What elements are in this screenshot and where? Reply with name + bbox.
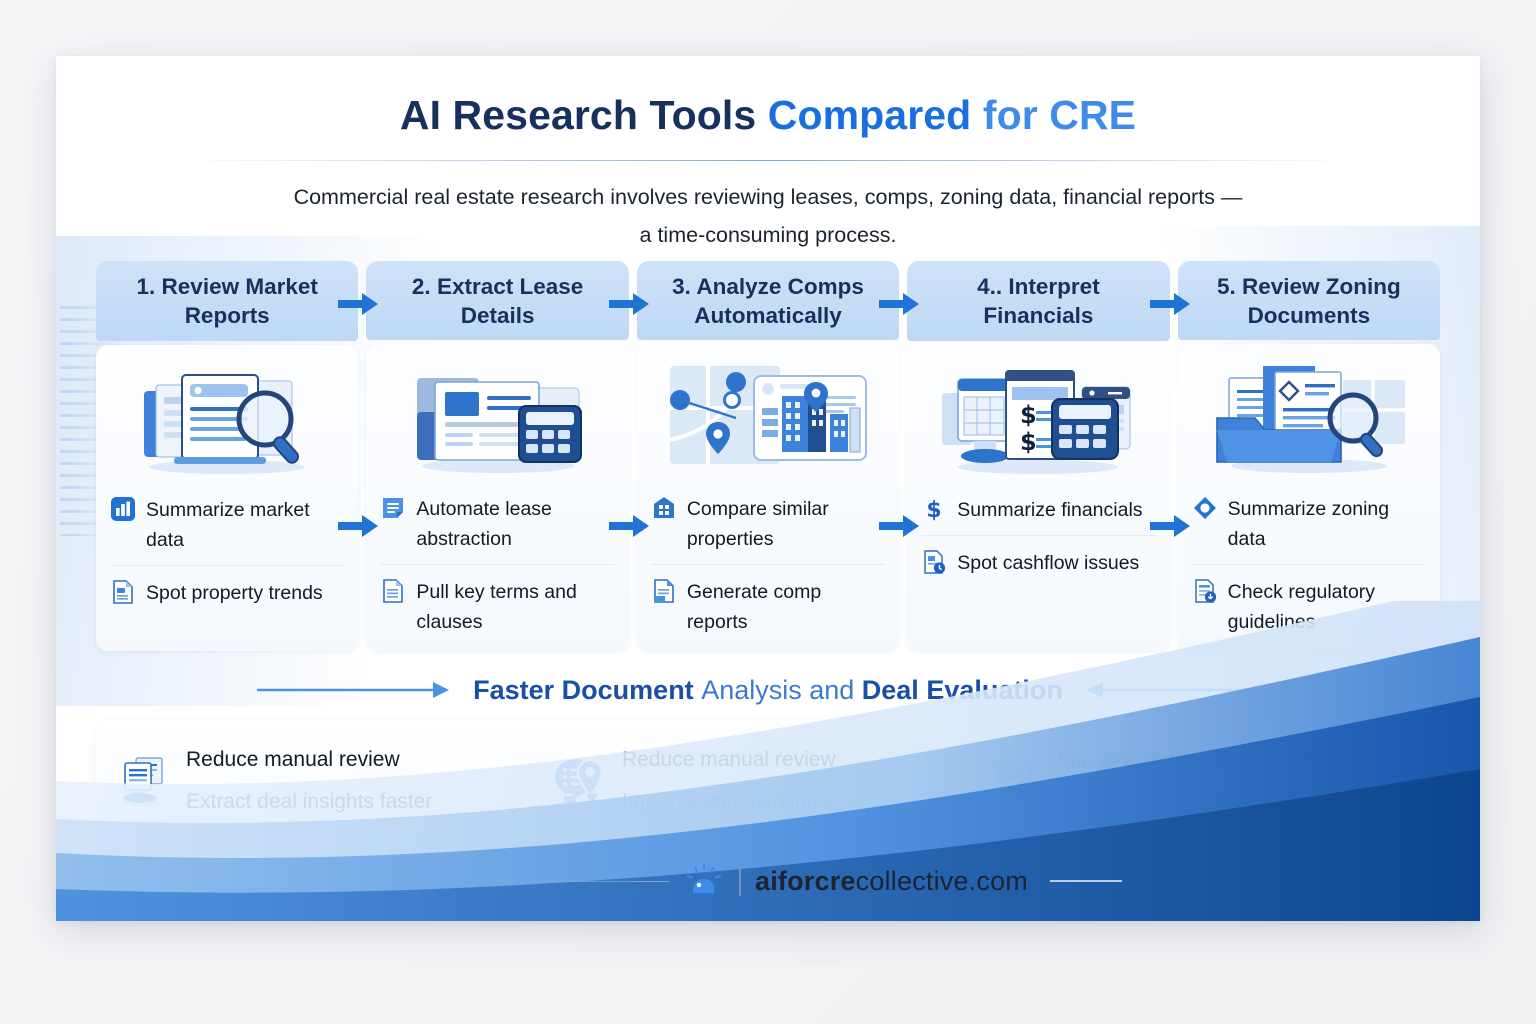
step-card-body: $ $: [907, 345, 1169, 651]
banner-text-bold-2: Deal Evaluation: [862, 675, 1063, 705]
process-steps: 1. Review Market Reports: [96, 261, 1440, 651]
title-segment-accent: Compared: [768, 92, 983, 138]
step-heading: 3. Analyze Comps Automatically: [649, 272, 887, 330]
step-card-header: 1. Review Market Reports: [96, 261, 358, 341]
bullet-connector-arrow-icon: [1148, 513, 1192, 539]
bullet-row: $ Summarize financials: [921, 483, 1155, 535]
document-lines-icon: [110, 579, 136, 605]
bar-chart-icon: [110, 496, 136, 522]
bullet-row: Compare similar properties: [651, 482, 885, 564]
bullet-text: Generate comp reports: [687, 577, 885, 637]
lightbulb-eye-logo-icon: [683, 863, 725, 899]
bullet-text: Check regulatory guidelines: [1228, 577, 1426, 637]
step-connector-arrow-icon: [336, 291, 380, 317]
bullet-row: Automate lease abstraction: [380, 482, 614, 564]
benefit-column-2: Reduce manual review Improve underwritin…: [550, 739, 986, 823]
bullet-text: Spot property trends: [146, 578, 323, 608]
banner-text: Faster Document Analysis and Deal Evalua…: [457, 675, 1079, 706]
benefit-column-1: Reduce manual review Extract deal insigh…: [114, 739, 550, 823]
step-card-header: 5. Review Zoning Documents: [1178, 261, 1440, 340]
benefit-line-1: Reduce manual review: [622, 739, 836, 781]
step-heading: 5. Review Zoning Documents: [1190, 272, 1428, 330]
document-page-icon: [380, 578, 406, 604]
benefit-column-3: Improve underwriting efficiency Streamli…: [986, 739, 1422, 823]
dollar-sign-icon: $: [921, 496, 947, 522]
document-report-icon: [651, 578, 677, 604]
bullet-text: Summarize financials: [957, 495, 1142, 525]
building-grid-icon: [651, 495, 677, 521]
bullet-row: Check regulatory guidelines: [1192, 564, 1426, 647]
step-card-1[interactable]: 1. Review Market Reports: [96, 261, 358, 651]
bullet-row: Pull key terms and clauses: [380, 564, 614, 647]
benefit-line-2: Streamline research process: [1058, 781, 1347, 823]
step-heading: 4.. Interpret Financials: [919, 272, 1157, 330]
page-background: AI Research Tools Compared for CRE Comme…: [0, 0, 1536, 1024]
infographic-poster: AI Research Tools Compared for CRE Comme…: [56, 56, 1480, 921]
location-diamond-icon: [1192, 495, 1218, 521]
footer-divider-left: [414, 881, 669, 882]
benefit-line-2: Improve underwriting e: [622, 781, 836, 823]
step-card-body: Compare similar properties Generate comp…: [637, 344, 899, 651]
bullet-connector-arrow-icon: [607, 513, 651, 539]
documents-stack-icon: [114, 752, 172, 810]
step-card-header: 4.. Interpret Financials: [907, 261, 1169, 341]
step-card-body: Automate lease abstraction Pull key term…: [366, 344, 628, 651]
bullet-row: Summarize zoning data: [1192, 482, 1426, 564]
subtitle-line-2: a time-consuming process.: [176, 216, 1360, 254]
title-segment-accent-light: for CRE: [983, 92, 1136, 138]
banner-text-soft: Analysis and: [701, 675, 862, 705]
step-bullets: Summarize zoning data Check regulatory g…: [1178, 480, 1440, 647]
benefit-line-2: Extract deal insights faster: [186, 781, 432, 823]
step-card-2[interactable]: 2. Extract Lease Details: [366, 261, 628, 651]
bullet-text: Compare similar properties: [687, 494, 885, 554]
benefit-lines: Reduce manual review Improve underwritin…: [622, 739, 836, 823]
bullet-connector-arrow-icon: [877, 513, 921, 539]
step-heading: 1. Review Market Reports: [108, 272, 346, 330]
step-card-5[interactable]: 5. Review Zoning Documents: [1178, 261, 1440, 651]
bullet-text: Summarize market data: [146, 495, 344, 555]
svg-text:$: $: [1020, 401, 1037, 429]
report-calculator-illustration: [366, 352, 628, 480]
step-bullets: Summarize market data Spot property tren…: [96, 481, 358, 647]
title-divider: [180, 160, 1356, 161]
step-bullets: Compare similar properties Generate comp…: [637, 480, 899, 647]
benefits-panel: Reduce manual review Extract deal insigh…: [96, 720, 1440, 842]
footer-domain-regular: collective.com: [856, 866, 1028, 896]
map-buildings-illustration: [637, 352, 899, 480]
bullet-connector-arrow-icon: [336, 513, 380, 539]
footer-domain-bold: aiforcre: [755, 866, 856, 896]
bullet-text: Summarize zoning data: [1228, 494, 1426, 554]
banner-text-bold-1: Faster Document: [473, 675, 701, 705]
step-card-4[interactable]: 4.. Interpret Financials: [907, 261, 1169, 651]
folder-documents-magnifier-illustration: [1178, 352, 1440, 480]
footer-divider-right: [1050, 880, 1122, 882]
bullet-row: Generate comp reports: [651, 564, 885, 647]
bullet-text: Automate lease abstraction: [416, 494, 614, 554]
svg-text:$: $: [1020, 428, 1037, 456]
footer: aiforcrecollective.com: [56, 848, 1480, 914]
benefit-line-1: Reduce manual review: [186, 739, 432, 781]
subtitle-line-1: Commercial real estate research involves…: [176, 178, 1360, 216]
bullet-text: Pull key terms and clauses: [416, 577, 614, 637]
step-heading: 2. Extract Lease Details: [378, 272, 616, 330]
step-connector-arrow-icon: [607, 291, 651, 317]
step-card-header: 2. Extract Lease Details: [366, 261, 628, 340]
svg-text:$: $: [927, 498, 942, 522]
bullet-row: Spot cashflow issues: [921, 535, 1155, 588]
footer-separator: [739, 866, 741, 896]
title-segment-primary: AI Research Tools: [400, 92, 768, 138]
step-card-header: 3. Analyze Comps Automatically: [637, 261, 899, 340]
page-title: AI Research Tools Compared for CRE: [56, 92, 1480, 139]
outcome-banner: Faster Document Analysis and Deal Evalua…: [96, 660, 1440, 720]
step-card-3[interactable]: 3. Analyze Comps Automatically: [637, 261, 899, 651]
document-clock-icon: [921, 549, 947, 575]
step-bullets: Automate lease abstraction Pull key term…: [366, 480, 628, 647]
bullet-row: Spot property trends: [110, 565, 344, 618]
benefit-lines: Reduce manual review Extract deal insigh…: [186, 739, 432, 823]
page-subtitle: Commercial real estate research involves…: [176, 178, 1360, 254]
briefcase-check-icon: [986, 752, 1044, 810]
footer-domain[interactable]: aiforcrecollective.com: [755, 866, 1028, 897]
benefit-lines: Improve underwriting efficiency Streamli…: [1058, 739, 1347, 823]
banner-arrow-right: [1079, 679, 1279, 701]
benefit-line-1: Improve underwriting efficiency: [1058, 739, 1347, 781]
map-pin-data-icon: [550, 752, 608, 810]
step-connector-arrow-icon: [1148, 291, 1192, 317]
note-lines-icon: [380, 495, 406, 521]
bullet-text: Spot cashflow issues: [957, 548, 1139, 578]
step-connector-arrow-icon: [877, 291, 921, 317]
step-card-body: Summarize market data Spot property tren…: [96, 345, 358, 651]
documents-magnifier-illustration: [96, 353, 358, 481]
document-download-icon: [1192, 578, 1218, 604]
calculators-invoice-illustration: $ $: [907, 353, 1169, 481]
step-bullets: $ Summarize financials Spot cashflow iss…: [907, 481, 1169, 647]
bullet-row: Summarize market data: [110, 483, 344, 565]
banner-arrow-left: [257, 679, 457, 701]
step-card-body: Summarize zoning data Check regulatory g…: [1178, 344, 1440, 651]
